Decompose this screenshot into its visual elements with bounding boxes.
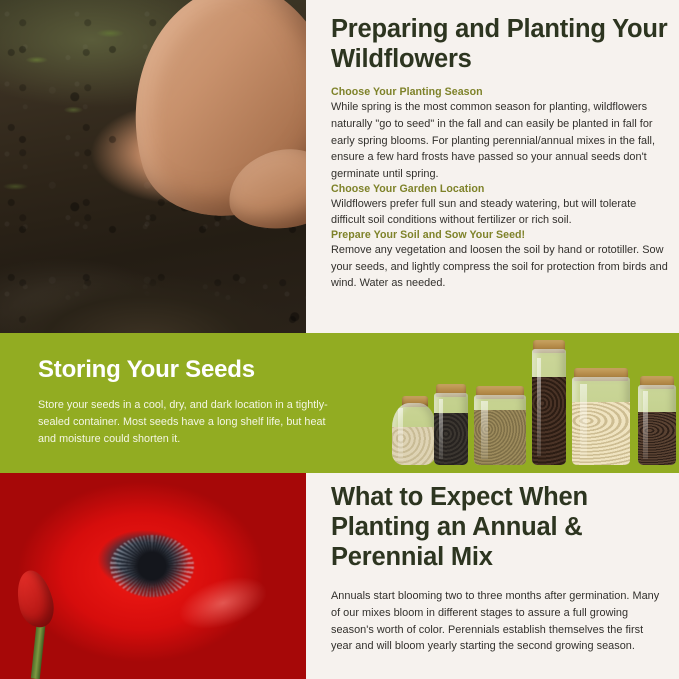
red-poppy-image [0, 473, 306, 679]
expect-title: What to Expect When Planting an Annual &… [331, 482, 667, 572]
expect-paragraph: Annuals start blooming two to three mont… [331, 588, 667, 655]
jar-contents [572, 402, 630, 465]
block-prepare-soil: Prepare Your Soil and Sow Your Seed! Rem… [331, 229, 669, 292]
preparing-text-column: Preparing and Planting Your Wildflowers … [331, 0, 679, 333]
storing-paragraph: Store your seeds in a cool, dry, and dar… [38, 397, 338, 447]
section-what-to-expect: What to Expect When Planting an Annual &… [0, 473, 679, 679]
storing-text-column: Storing Your Seeds Store your seeds in a… [38, 357, 338, 448]
paragraph-prepare-soil: Remove any vegetation and loosen the soi… [331, 242, 669, 292]
poppy-bud [12, 567, 59, 632]
jar-pumpkin-seeds [572, 377, 630, 465]
jar-contents [474, 410, 526, 465]
section-preparing-and-planting: Preparing and Planting Your Wildflowers … [0, 0, 679, 333]
jar-grain-seeds [474, 395, 526, 465]
subheading-planting-season: Choose Your Planting Season [331, 86, 669, 98]
jar-dark-seeds [434, 393, 468, 465]
jar-contents [392, 427, 436, 465]
seed-jars-image [382, 333, 679, 473]
hands-sowing-seeds-image [0, 0, 306, 333]
paragraph-planting-season: While spring is the most common season f… [331, 99, 669, 182]
jar-tall-brown-seeds [532, 349, 566, 465]
expect-text-column: What to Expect When Planting an Annual &… [331, 473, 679, 655]
block-planting-season: Choose Your Planting Season While spring… [331, 86, 669, 182]
paragraph-garden-location: Wildflowers prefer full sun and steady w… [331, 196, 669, 229]
jar-round-beans [392, 403, 436, 465]
infographic-page: Preparing and Planting Your Wildflowers … [0, 0, 679, 679]
page-title: Preparing and Planting Your Wildflowers [331, 14, 669, 74]
jar-contents [638, 412, 676, 465]
storing-title: Storing Your Seeds [38, 357, 338, 383]
jar-contents [532, 377, 566, 465]
block-garden-location: Choose Your Garden Location Wildflowers … [331, 183, 669, 229]
section-storing-your-seeds: Storing Your Seeds Store your seeds in a… [0, 333, 679, 473]
jar-contents [434, 413, 468, 465]
subheading-garden-location: Choose Your Garden Location [331, 183, 669, 195]
subheading-prepare-soil: Prepare Your Soil and Sow Your Seed! [331, 229, 669, 241]
poppy-stamen-center [110, 535, 194, 597]
jar-sunflower-seeds [638, 385, 676, 465]
